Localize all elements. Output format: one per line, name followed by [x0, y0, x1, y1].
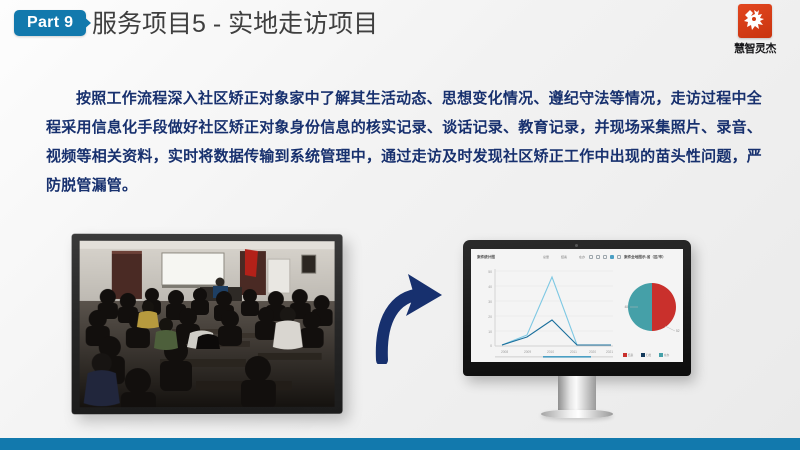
- svg-text:48: 48: [624, 305, 628, 309]
- line-chart: 50 40 30 20 10 0 2008 2009 2010 2011 202…: [477, 265, 617, 361]
- svg-text:30: 30: [488, 300, 492, 304]
- line-chart-title: 案件统计图: [477, 255, 495, 260]
- svg-text:50: 50: [488, 270, 492, 274]
- svg-text:2021: 2021: [606, 350, 613, 354]
- brand-logo: 慧智灵杰: [724, 4, 786, 56]
- monitor-display: 案件统计图 案件全地图示-省（区/市） 总量 结案 在办: [463, 240, 691, 418]
- pie-chart-title: 案件全地图示-省（区/市）: [624, 255, 666, 260]
- legend-label-0: 结案: [628, 353, 633, 357]
- legend-swatch-1: [641, 353, 645, 357]
- svg-text:10: 10: [488, 330, 492, 334]
- svg-text:2020: 2020: [589, 350, 596, 354]
- photo-display-frame: [72, 234, 343, 415]
- svg-text:0: 0: [490, 344, 492, 348]
- classroom-photo-illustration: [80, 241, 335, 407]
- monitor-bezel: 案件统计图 案件全地图示-省（区/市） 总量 结案 在办: [463, 240, 691, 376]
- legend-swatch-2: [659, 353, 663, 357]
- svg-text:20: 20: [488, 315, 492, 319]
- pie-chart: 48 52: [621, 273, 683, 343]
- toolbar-pie-icon[interactable]: [610, 255, 614, 259]
- monitor-stand-neck: [558, 376, 596, 410]
- series-chip-2[interactable]: 在办: [579, 255, 585, 259]
- footer-accent-bar: [0, 438, 800, 450]
- svg-text:2008: 2008: [501, 350, 508, 354]
- svg-text:2009: 2009: [524, 350, 531, 354]
- dashboard-screen: 案件统计图 案件全地图示-省（区/市） 总量 结案 在办: [471, 249, 683, 362]
- legend-label-1: 归档: [646, 353, 651, 357]
- part-badge: Part 9: [14, 10, 86, 36]
- series-chip-1[interactable]: 结案: [561, 255, 567, 259]
- part-badge-tail-icon: [82, 15, 91, 31]
- webcam-icon: [575, 244, 578, 247]
- page-title: 服务项目5 - 实地走访项目: [92, 5, 378, 43]
- toolbar-filter-icon[interactable]: [589, 255, 593, 259]
- svg-text:2010: 2010: [547, 350, 554, 354]
- photo-classroom-scene: [80, 241, 335, 407]
- series-chip-0[interactable]: 总量: [543, 255, 549, 259]
- body-paragraph: 按照工作流程深入社区矫正对象家中了解其生活动态、思想变化情况、遵纪守法等情况，走…: [46, 84, 762, 200]
- logo-glyph-icon: [742, 7, 768, 35]
- legend-label-2: 在办: [664, 353, 669, 357]
- toolbar-sort-icon[interactable]: [596, 255, 600, 259]
- legend-swatch-0: [623, 353, 627, 357]
- svg-text:52: 52: [676, 329, 680, 333]
- logo-mark-icon: [738, 4, 772, 38]
- flow-arrow: [370, 272, 470, 369]
- slide-header: Part 9 服务项目5 - 实地走访项目 慧智灵杰: [0, 0, 800, 58]
- curved-arrow-icon: [370, 272, 470, 364]
- logo-text: 慧智灵杰: [724, 40, 786, 56]
- svg-text:2011: 2011: [570, 350, 577, 354]
- monitor-stand-base: [541, 410, 613, 418]
- svg-text:40: 40: [488, 285, 492, 289]
- toolbar-bar-icon[interactable]: [603, 255, 607, 259]
- toolbar-grid-icon[interactable]: [617, 255, 621, 259]
- part-badge-label: Part 9: [27, 14, 73, 32]
